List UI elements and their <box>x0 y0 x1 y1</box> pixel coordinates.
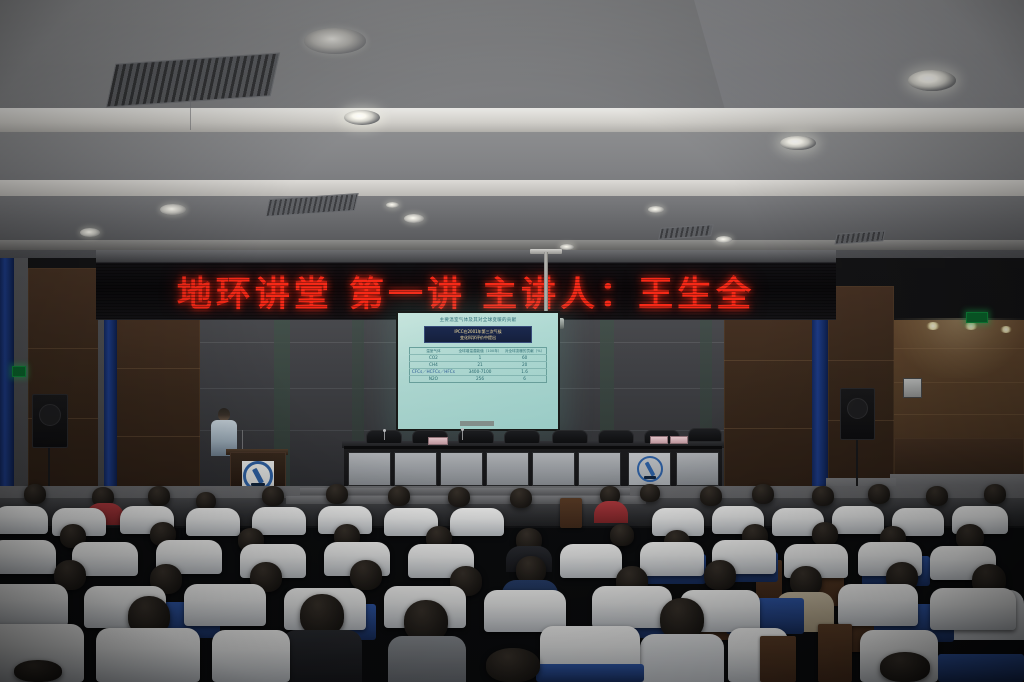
stage-front-panel-logo <box>628 452 671 486</box>
audience-head <box>610 524 634 546</box>
audience-seat <box>0 584 68 626</box>
table-microphone <box>462 430 463 440</box>
wall-pillar-blue <box>812 300 828 496</box>
wall-panel-seam <box>828 360 894 361</box>
slide-cell-gas: N2O <box>410 376 457 383</box>
ceiling-downlight <box>648 206 664 213</box>
slide-cell-gas: CFCs／HCFCs／HFCs <box>410 369 457 376</box>
ceiling-beam-upper <box>0 108 1024 134</box>
seat-frame <box>938 654 1024 682</box>
wall-light <box>926 322 940 330</box>
ceiling-downlight <box>716 236 732 243</box>
led-banner-text: 地环讲堂 第一讲 主讲人：王生全 <box>177 266 755 317</box>
projector-mount-pole <box>544 252 548 320</box>
audience-head <box>704 560 736 590</box>
ceiling-downlight <box>304 28 366 54</box>
table-microphone-head <box>461 428 464 431</box>
slide-col-gwp: 全球增温潜能值（100年） <box>457 348 503 355</box>
audience-head <box>640 484 660 502</box>
audience-seat <box>450 508 504 536</box>
stage-chair <box>598 430 634 444</box>
audience-head <box>812 486 834 506</box>
slide-table-row: CH4 21 20 <box>410 362 547 369</box>
audience-body <box>594 501 628 523</box>
slide-col-contrib: 对全球变暖的贡献（%） <box>503 348 546 355</box>
stage-chair <box>688 428 722 442</box>
wall-pillar-blue <box>104 316 117 494</box>
stage-front-panel <box>394 452 437 486</box>
slide-cell-gwp: 21 <box>457 362 503 369</box>
vent-cable <box>190 96 191 130</box>
audience-head <box>510 488 532 508</box>
stage-name-card <box>670 436 688 444</box>
slide-cell-gas: CH4 <box>410 362 457 369</box>
stage-front-panel <box>676 452 719 486</box>
audience-head <box>148 486 170 506</box>
wall-panel-seam <box>116 368 200 369</box>
audience-head <box>24 484 46 504</box>
wall-control-plate <box>903 378 922 398</box>
stage-front-panel <box>348 452 391 486</box>
stage-name-card <box>650 436 668 444</box>
audience-seat <box>832 506 884 534</box>
audience-head <box>700 486 722 506</box>
exit-sign <box>12 366 26 377</box>
ceiling-middle <box>0 132 1024 184</box>
seat-desk <box>818 624 852 682</box>
audience-seat <box>96 628 200 682</box>
stage-chair <box>504 430 540 444</box>
pa-speaker-cone <box>39 404 61 426</box>
slide-col-gas: 温室气体 <box>410 348 457 355</box>
stage-front-panel <box>578 452 621 486</box>
audience-head <box>14 660 62 682</box>
audience-seat <box>930 588 1016 630</box>
slide-content: 主要温室气体及其对全球变暖的贡献 IPCC在2001年第三次气候 变化科学评价中… <box>398 313 558 429</box>
wall-panel-seam <box>28 348 108 349</box>
emblem-base <box>644 476 656 479</box>
exit-sign <box>966 312 988 323</box>
slide-table-row: N2O 256 6 <box>410 376 547 383</box>
slide-footer-bar <box>460 421 494 426</box>
table-microphone-head <box>383 429 386 432</box>
audience-seat <box>212 630 290 682</box>
ceiling-downlight <box>386 202 399 208</box>
audience-head <box>486 648 540 682</box>
wall-panel-seam <box>116 436 200 437</box>
stage-front-panel <box>440 452 483 486</box>
slide-cell-contribution: 6 <box>503 376 546 383</box>
audience-head <box>262 486 284 506</box>
slide-cell-gas: CO2 <box>410 355 457 362</box>
slide-table-row: CFCs／HCFCs／HFCs 3400-7100 1.6 <box>410 369 547 376</box>
slide-cell-contribution: 60 <box>503 355 546 362</box>
audience-head <box>926 486 948 506</box>
ceiling-downlight <box>80 228 100 237</box>
audience-seat <box>560 544 622 578</box>
university-emblem <box>629 453 670 485</box>
wall-light <box>1000 326 1012 333</box>
audience-seat <box>184 584 266 626</box>
slide-cell-contribution: 20 <box>503 362 546 369</box>
ceiling-downlight <box>160 204 186 215</box>
stage-front-panel <box>486 452 529 486</box>
slide-table-row: CO2 1 60 <box>410 355 547 362</box>
audience-body <box>282 630 362 682</box>
slide-table-header-row: 温室气体 全球增温潜能值（100年） 对全球变暖的贡献（%） <box>410 348 547 355</box>
stage-chair <box>458 430 494 444</box>
audience-head <box>984 484 1006 504</box>
audience-head <box>448 487 470 507</box>
audience-head <box>880 652 930 682</box>
audience-head <box>388 486 410 506</box>
audience-seat <box>186 508 240 536</box>
ceiling-downlight <box>404 214 424 223</box>
slide-subtitle-banner: IPCC在2001年第三次气候 变化科学评价中提出 <box>424 326 532 343</box>
audience-seat <box>0 540 56 574</box>
slide-cell-gwp: 256 <box>457 376 503 383</box>
slide-cell-gwp: 3400-7100 <box>457 369 503 376</box>
audience-seat <box>0 506 48 534</box>
audience-body <box>388 636 466 682</box>
lecture-hall-photo: 地环讲堂 第一讲 主讲人：王生全 主要温室气体及其对全球变暖的贡献 IPCC在2… <box>0 0 1024 682</box>
wall-light <box>964 322 978 330</box>
slide-table: 温室气体 全球增温潜能值（100年） 对全球变暖的贡献（%） CO2 1 60 … <box>409 347 547 383</box>
slide-banner-line-2: 变化科学评价中提出 <box>460 335 496 341</box>
wall-panel-seam <box>894 414 1024 415</box>
audience-head <box>812 522 838 546</box>
ceiling-downlight <box>344 110 380 125</box>
stage-chair <box>552 430 588 444</box>
slide-title: 主要温室气体及其对全球变暖的贡献 <box>404 317 552 323</box>
pa-speaker-cone <box>847 398 868 419</box>
audience-seat <box>640 542 704 576</box>
audience-body <box>640 634 724 682</box>
ceiling-downlight <box>780 136 816 150</box>
wall-wood-panel <box>116 318 200 494</box>
slide-cell-gwp: 1 <box>457 355 503 362</box>
audience-head <box>326 484 348 504</box>
seat-desk <box>760 636 796 682</box>
audience-head <box>752 484 774 504</box>
audience-head <box>868 484 890 504</box>
stage-name-card <box>428 437 448 445</box>
slide-cell-contribution: 1.6 <box>503 369 546 376</box>
audience-seat <box>838 584 918 626</box>
stage-front-panel <box>532 452 575 486</box>
ceiling-downlight <box>908 70 956 91</box>
projection-screen: 主要温室气体及其对全球变暖的贡献 IPCC在2001年第三次气候 变化科学评价中… <box>396 311 560 431</box>
seat-frame <box>536 664 644 682</box>
audience-head <box>350 560 382 590</box>
seat-desk <box>560 498 582 528</box>
table-microphone <box>384 431 385 440</box>
